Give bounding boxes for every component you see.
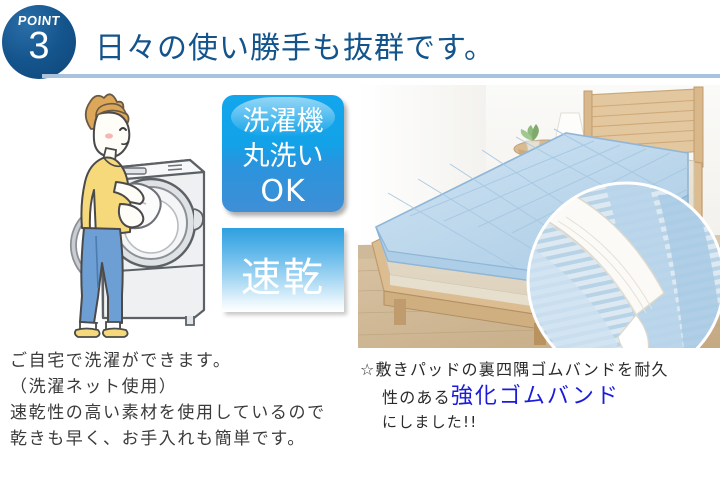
reinforced-elastic-band-emphasis: 強化ゴムバンド xyxy=(451,384,620,409)
washable-badge-line-2: 丸洗い xyxy=(222,139,344,174)
advertisement-panel: POINT 3 日々の使い勝手も抜群です。 xyxy=(0,0,720,501)
washable-badge-line-3: OK xyxy=(222,174,344,210)
left-description-line-1: ご自宅で洗濯ができます。 xyxy=(10,348,350,374)
header-divider xyxy=(42,74,720,78)
point-badge: POINT 3 xyxy=(2,5,76,79)
quick-dry-badge-label: 速乾 xyxy=(222,256,344,300)
left-description-line-4: 乾きも早く、お手入れも簡単です。 xyxy=(10,426,350,452)
quick-dry-badge: 速乾 xyxy=(222,228,344,312)
right-description-line-1: ☆敷きパッドの裏四隅ゴムバンドを耐久 xyxy=(360,356,718,383)
bed-with-mattress-pad-photo xyxy=(358,85,720,348)
right-description-line-3: にしました!! xyxy=(360,411,718,433)
point-badge-number: 3 xyxy=(2,26,76,66)
woman-loading-washing-machine-illustration xyxy=(8,86,218,342)
point-badge-label: POINT xyxy=(1,14,76,28)
right-description-line-2: 性のある強化ゴムバンド xyxy=(360,383,718,411)
right-description-block: ☆敷きパッドの裏四隅ゴムバンドを耐久 性のある強化ゴムバンド にしました!! xyxy=(360,356,718,433)
washable-badge: 洗濯機 丸洗い OK xyxy=(222,95,344,212)
page-title: 日々の使い勝手も抜群です。 xyxy=(95,23,495,67)
washable-badge-line-1: 洗濯機 xyxy=(222,104,344,139)
left-description-line-3: 速乾性の高い素材を使用しているので xyxy=(10,400,350,426)
left-description-block: ご自宅で洗濯ができます。 （洗濯ネット使用） 速乾性の高い素材を使用しているので… xyxy=(10,348,350,452)
left-description-line-2: （洗濯ネット使用） xyxy=(10,374,350,400)
right-description-line-2-prefix: 性のある xyxy=(382,388,451,407)
